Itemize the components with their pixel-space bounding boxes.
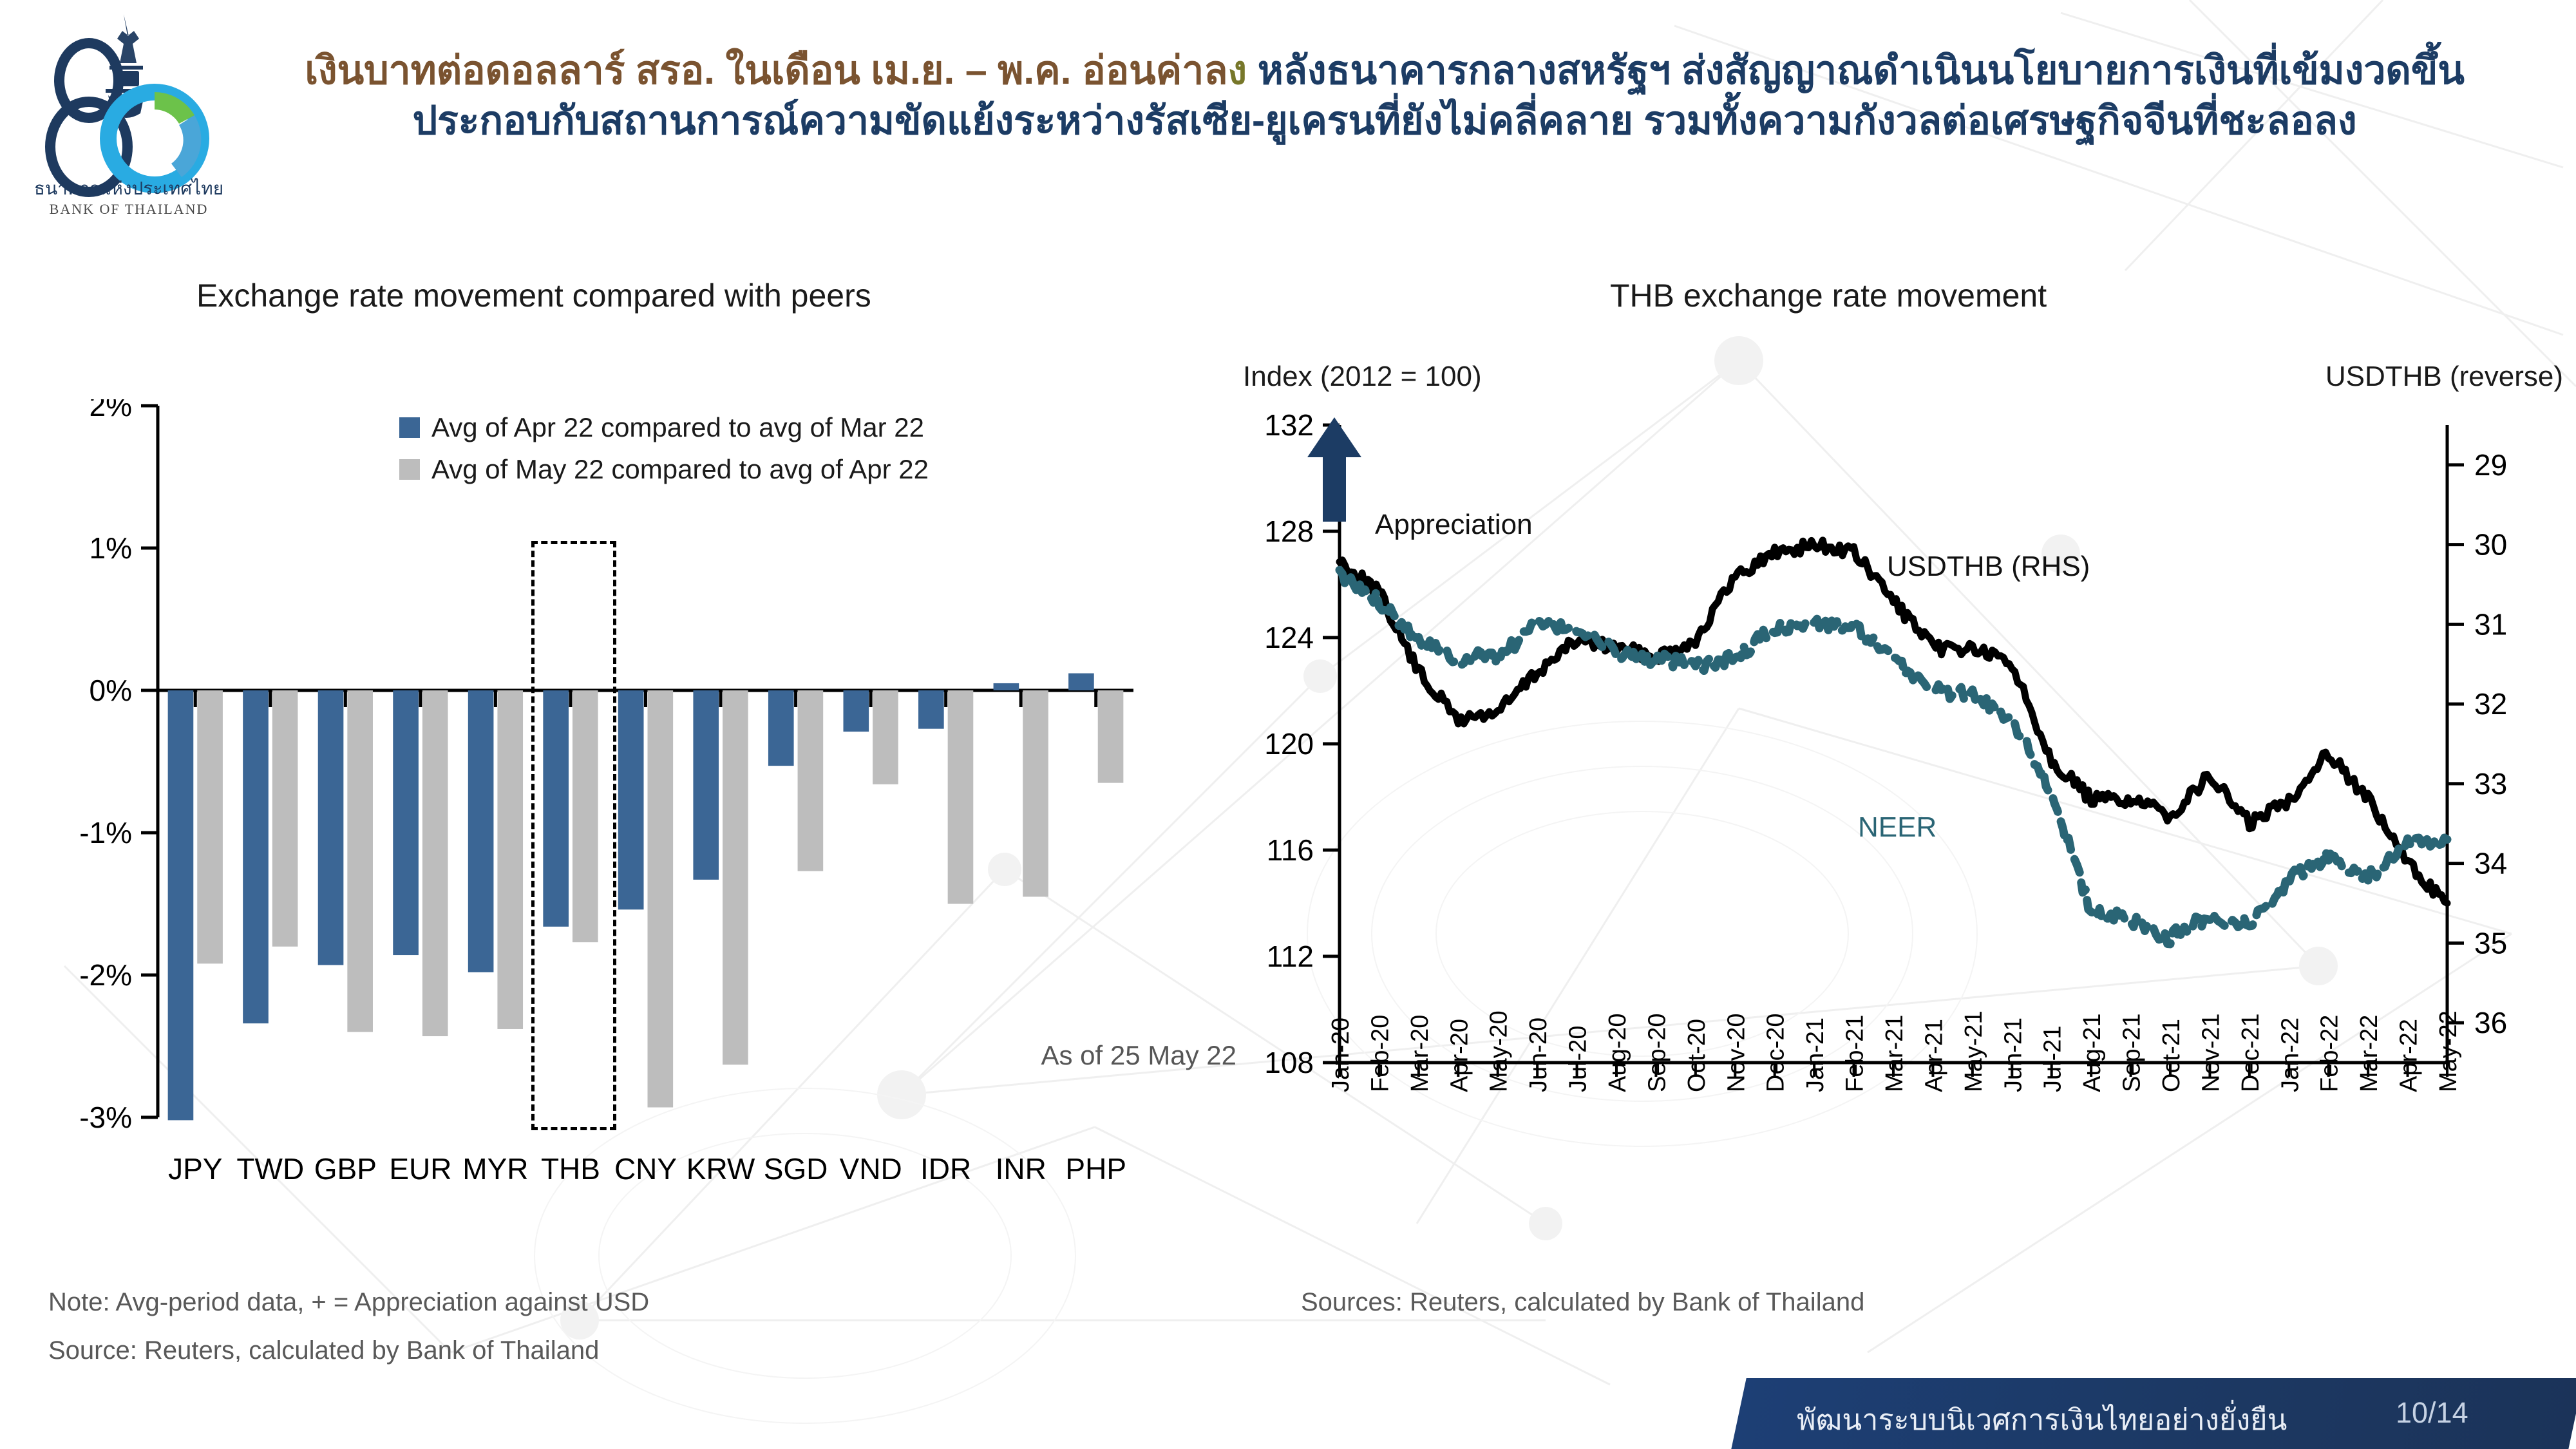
- y-tick-label: -2%: [79, 958, 132, 992]
- bar-gbp-may[interactable]: [347, 690, 373, 1032]
- slide-title-emphasis: เงินบาทต่อดอลลาร์ สรอ. ในเดือน เม.ย. – พ…: [305, 48, 1227, 92]
- bar-php-apr[interactable]: [1068, 673, 1094, 690]
- bar-jpy-apr[interactable]: [168, 690, 194, 1120]
- x-category-label: TWD: [236, 1152, 304, 1186]
- right-y-tick-label: 31: [2474, 607, 2507, 641]
- thb-exchange-rate-chart: Index (2012 = 100) USDTHB (reverse) 1081…: [1243, 361, 2563, 1217]
- slide-title-line-2: ประกอบกับสถานการณ์ความขัดแย้งระหว่างรัสเ…: [213, 95, 2557, 146]
- bar-krw-apr[interactable]: [693, 690, 719, 880]
- exchange-rate-vs-peers-chart: Avg of Apr 22 compared to avg of Mar 22 …: [39, 399, 1262, 1204]
- x-month-label: May-20: [1486, 1010, 1513, 1092]
- x-month-label: Feb-20: [1367, 1015, 1394, 1092]
- x-month-label: Sep-21: [2119, 1013, 2146, 1092]
- bar-sgd-apr[interactable]: [768, 690, 794, 766]
- x-month-label: Mar-21: [1881, 1015, 1908, 1092]
- x-category-label: INR: [996, 1152, 1046, 1186]
- x-month-label: Aug-20: [1604, 1013, 1631, 1092]
- bank-of-thailand-logo: ธนาคารแห่งประเทศไทย BANK OF THAILAND: [26, 6, 232, 219]
- x-month-label: Jul-21: [2040, 1026, 2067, 1093]
- x-month-label: Feb-21: [1842, 1015, 1869, 1092]
- bar-gbp-apr[interactable]: [318, 690, 344, 965]
- neer-line: [1340, 570, 2447, 944]
- x-month-label: Mar-22: [2356, 1015, 2383, 1092]
- bar-twd-may[interactable]: [272, 690, 298, 947]
- x-category-label: IDR: [920, 1152, 971, 1186]
- bar-eur-may[interactable]: [422, 690, 448, 1036]
- left-y-tick-label: 112: [1267, 940, 1314, 973]
- x-month-label: Jan-22: [2277, 1018, 2304, 1092]
- usdthb-line: [1340, 540, 2447, 904]
- footer-title: พัฒนาระบบนิเวศการเงินไทยอย่างยั่งยืน: [1797, 1396, 2287, 1443]
- bar-krw-may[interactable]: [723, 690, 748, 1065]
- x-month-label: Apr-20: [1446, 1019, 1473, 1092]
- left-chart-plot: 2%1%0%-1%-2%-3%JPYTWDGBPEURMYRTHBCNYKRWS…: [39, 399, 1262, 1204]
- y-tick-label: -3%: [79, 1101, 132, 1134]
- left-chart-source: Source: Reuters, calculated by Bank of T…: [48, 1336, 599, 1365]
- left-y-tick-label: 132: [1264, 408, 1314, 442]
- neer-annotation: NEER: [1858, 811, 1937, 844]
- bar-inr-apr[interactable]: [994, 683, 1019, 690]
- footer-page-number: 10/14: [2396, 1396, 2468, 1430]
- x-category-label: SGD: [764, 1152, 828, 1186]
- left-y-tick-label: 120: [1264, 727, 1314, 761]
- right-chart-plot: 1081121161201241281322930313233343536Jan…: [1243, 361, 2563, 1217]
- bar-twd-apr[interactable]: [243, 690, 269, 1023]
- y-tick-label: -1%: [79, 816, 132, 849]
- right-y-tick-label: 36: [2474, 1006, 2507, 1039]
- right-y-tick-label: 35: [2474, 926, 2507, 960]
- x-month-label: May-21: [1960, 1010, 1987, 1092]
- right-y-tick-label: 29: [2474, 448, 2507, 482]
- bar-vnd-apr[interactable]: [843, 690, 869, 732]
- x-category-label: MYR: [462, 1152, 528, 1186]
- x-category-label: PHP: [1065, 1152, 1126, 1186]
- x-month-label: Apr-22: [2396, 1019, 2423, 1092]
- thb-highlight-box: [531, 541, 616, 1130]
- slide-title-rest: หลังธนาคารกลางสหรัฐฯ ส่งสัญญาณดำเนินนโยบ…: [1247, 48, 2465, 92]
- slide-title: เงินบาทต่อดอลลาร์ สรอ. ในเดือน เม.ย. – พ…: [213, 45, 2557, 146]
- left-chart-title: Exchange rate movement compared with pee…: [196, 277, 871, 314]
- x-month-label: May-22: [2435, 1010, 2462, 1092]
- bar-cny-may[interactable]: [648, 690, 674, 1108]
- left-y-tick-label: 116: [1267, 833, 1314, 867]
- appreciation-annotation: Appreciation: [1375, 509, 1533, 541]
- x-category-label: GBP: [314, 1152, 377, 1186]
- left-y-tick-label: 108: [1264, 1046, 1314, 1079]
- x-month-label: Mar-20: [1406, 1015, 1434, 1092]
- left-chart-note: Note: Avg-period data, + = Appreciation …: [48, 1288, 649, 1317]
- bar-sgd-may[interactable]: [798, 690, 824, 871]
- slide-title-emphasis-tail: ง: [1227, 48, 1247, 92]
- x-month-label: Jun-21: [2000, 1018, 2027, 1092]
- x-month-label: Oct-20: [1683, 1019, 1710, 1092]
- x-month-label: Nov-21: [2197, 1014, 2224, 1093]
- bar-myr-may[interactable]: [497, 690, 523, 1029]
- slide-title-line-1: เงินบาทต่อดอลลาร์ สรอ. ในเดือน เม.ย. – พ…: [213, 45, 2557, 95]
- x-category-label: CNY: [614, 1152, 677, 1186]
- right-y-tick-label: 33: [2474, 767, 2507, 800]
- right-y-tick-label: 34: [2474, 847, 2507, 880]
- y-tick-label: 2%: [90, 399, 132, 422]
- bar-eur-apr[interactable]: [393, 690, 419, 955]
- bar-php-may[interactable]: [1098, 690, 1124, 783]
- x-category-label: JPY: [168, 1152, 222, 1186]
- x-category-label: VND: [840, 1152, 902, 1186]
- x-month-label: Jun-20: [1525, 1018, 1552, 1092]
- right-y-tick-label: 32: [2474, 687, 2507, 721]
- x-month-label: Nov-20: [1723, 1014, 1750, 1093]
- y-tick-label: 0%: [90, 674, 132, 707]
- x-month-label: Jan-20: [1327, 1018, 1354, 1092]
- left-y-tick-label: 124: [1264, 621, 1314, 654]
- x-month-label: Jul-20: [1565, 1026, 1592, 1093]
- bar-inr-may[interactable]: [1023, 690, 1048, 896]
- bar-myr-apr[interactable]: [468, 690, 494, 972]
- as-of-label: As of 25 May 22: [1041, 1040, 1237, 1071]
- x-month-label: Sep-20: [1643, 1013, 1671, 1092]
- left-y-tick-label: 128: [1264, 515, 1314, 548]
- right-chart-source: Sources: Reuters, calculated by Bank of …: [1301, 1288, 1864, 1317]
- x-month-label: Apr-21: [1920, 1019, 1947, 1092]
- x-category-label: EUR: [389, 1152, 451, 1186]
- bar-idr-apr[interactable]: [918, 690, 944, 729]
- up-arrow-icon: [1307, 417, 1361, 522]
- x-month-label: Dec-21: [2237, 1014, 2264, 1093]
- x-month-label: Aug-21: [2079, 1013, 2106, 1092]
- logo-caption-en: BANK OF THAILAND: [50, 201, 209, 217]
- usdthb-annotation: USDTHB (RHS): [1887, 551, 2090, 583]
- x-month-label: Feb-22: [2316, 1015, 2344, 1092]
- right-y-tick-label: 30: [2474, 528, 2507, 562]
- right-chart-title: THB exchange rate movement: [1610, 277, 2047, 314]
- bar-jpy-may[interactable]: [197, 690, 223, 963]
- y-tick-label: 1%: [90, 531, 132, 565]
- x-month-label: Jan-21: [1802, 1018, 1829, 1092]
- logo-caption-th: ธนาคารแห่งประเทศไทย: [34, 178, 223, 198]
- x-category-label: THB: [541, 1152, 600, 1186]
- x-month-label: Oct-21: [2158, 1019, 2185, 1092]
- x-month-label: Dec-20: [1763, 1014, 1790, 1093]
- bar-idr-may[interactable]: [948, 690, 974, 904]
- bar-vnd-may[interactable]: [873, 690, 898, 784]
- x-category-label: KRW: [687, 1152, 755, 1186]
- bar-cny-apr[interactable]: [618, 690, 644, 909]
